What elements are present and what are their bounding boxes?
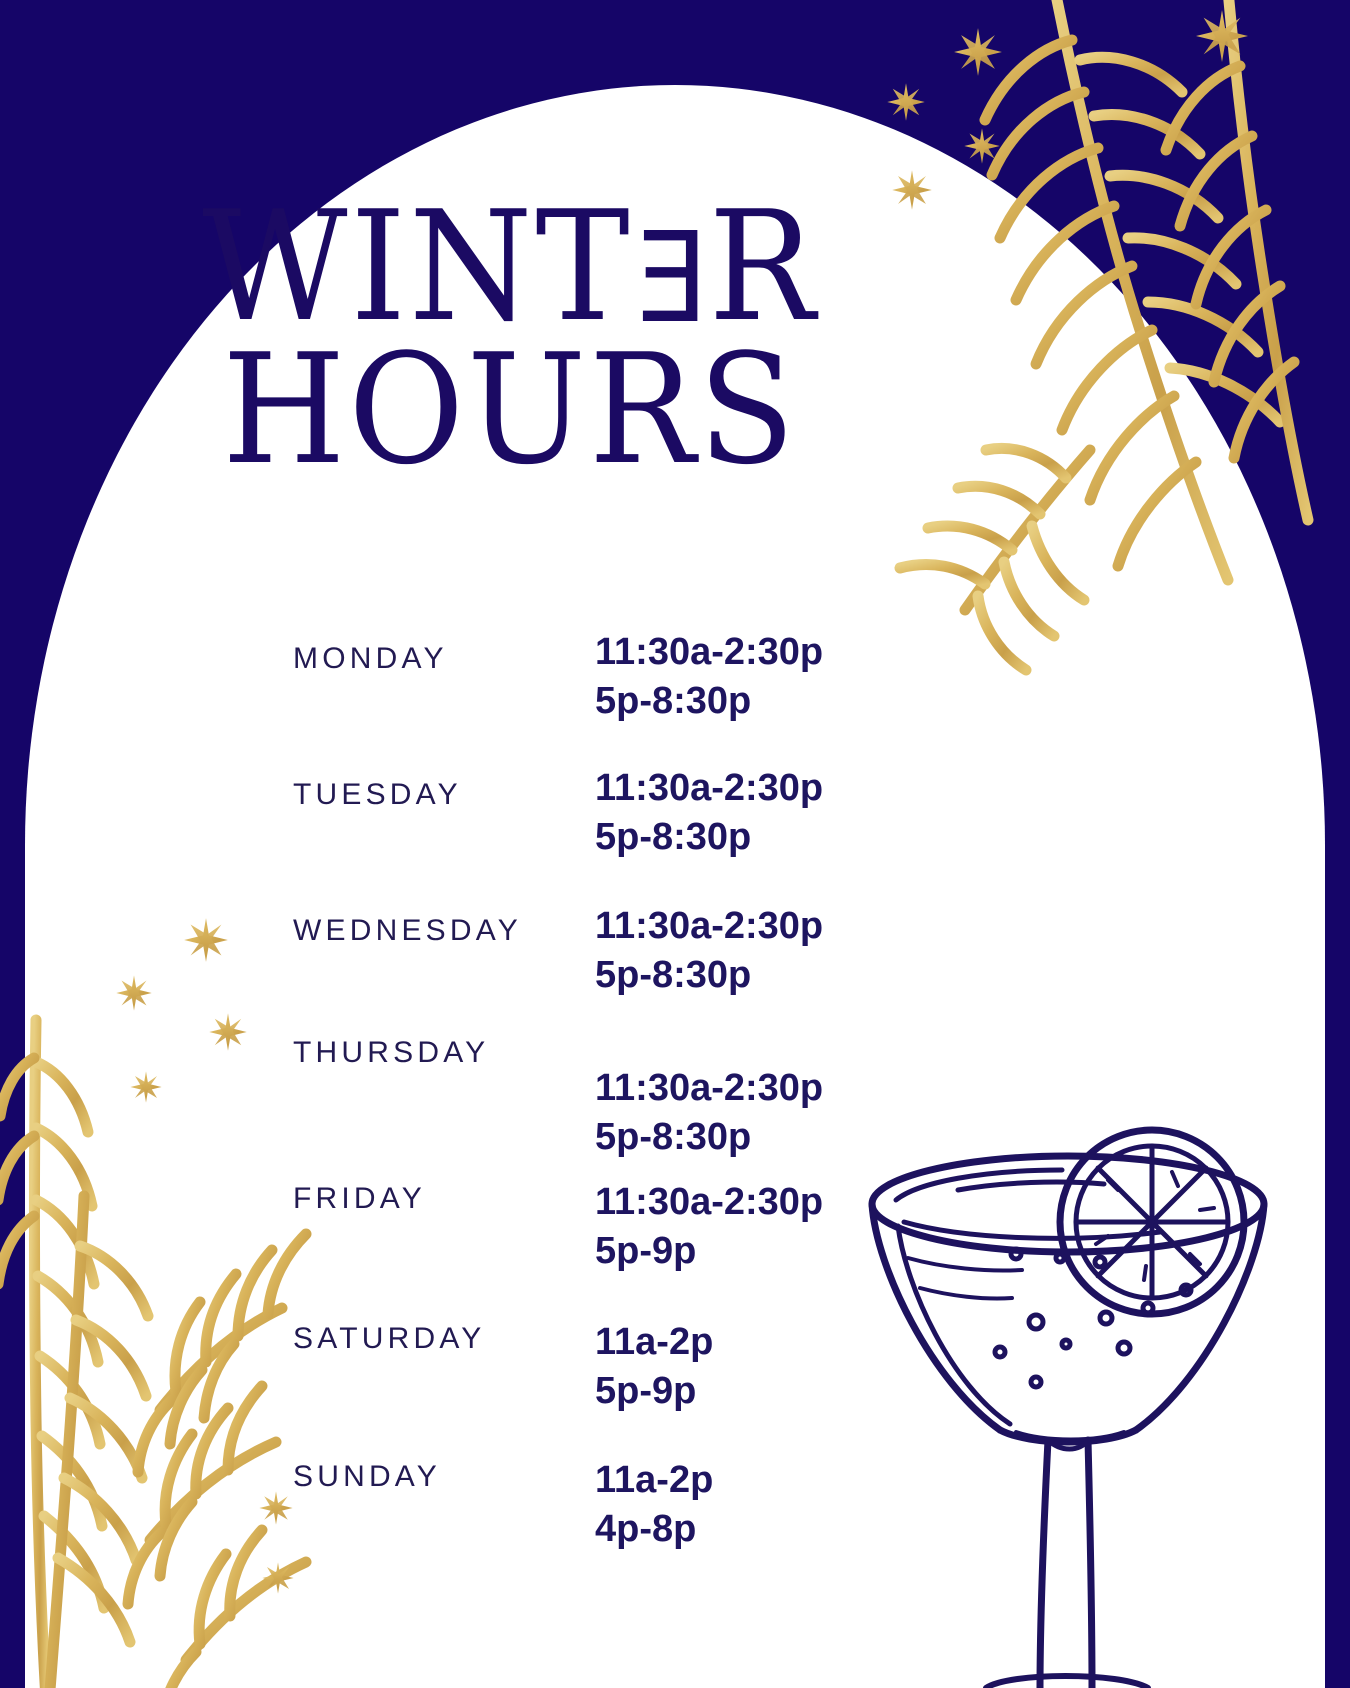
title-line-2: HOURS xyxy=(36,339,985,482)
day-label-thursday: THURSDAY xyxy=(293,1036,585,1070)
hours-thursday: 11:30a-2:30p 5p-8:30p xyxy=(595,1064,823,1161)
hours-friday: 11:30a-2:30p 5p-9p xyxy=(595,1178,823,1275)
winter-hours-poster: WINTER HOURS MONDAY 11:30a-2:30p 5p-8:30… xyxy=(0,0,1350,1688)
schedule-row-friday: FRIDAY 11:30a-2:30p 5p-9p xyxy=(0,1172,1350,1310)
hours-friday-dinner: 5p-9p xyxy=(595,1227,823,1276)
schedule-row-tuesday: TUESDAY 11:30a-2:30p 5p-8:30p xyxy=(0,758,1350,896)
day-label-monday: MONDAY xyxy=(293,642,585,676)
day-label-sunday: SUNDAY xyxy=(293,1460,585,1494)
schedule-row-monday: MONDAY 11:30a-2:30p 5p-8:30p xyxy=(0,620,1350,758)
hours-wednesday-lunch: 11:30a-2:30p xyxy=(595,902,823,951)
schedule-row-sunday: SUNDAY 11a-2p 4p-8p xyxy=(0,1448,1350,1586)
page-title: WINTER HOURS xyxy=(0,196,1020,482)
hours-tuesday: 11:30a-2:30p 5p-8:30p xyxy=(595,764,823,861)
hours-monday-lunch: 11:30a-2:30p xyxy=(595,628,823,677)
day-label-friday: FRIDAY xyxy=(293,1182,585,1216)
hours-wednesday: 11:30a-2:30p 5p-8:30p xyxy=(595,902,823,999)
hours-wednesday-dinner: 5p-8:30p xyxy=(595,951,823,1000)
hours-schedule: MONDAY 11:30a-2:30p 5p-8:30p TUESDAY 11:… xyxy=(0,620,1350,1586)
hours-thursday-lunch: 11:30a-2:30p xyxy=(595,1064,823,1113)
hours-monday-dinner: 5p-8:30p xyxy=(595,677,823,726)
hours-sunday-dinner: 4p-8p xyxy=(595,1505,713,1554)
hours-sunday-lunch: 11a-2p xyxy=(595,1456,713,1505)
hours-saturday-dinner: 5p-9p xyxy=(595,1367,713,1416)
hours-tuesday-lunch: 11:30a-2:30p xyxy=(595,764,823,813)
day-label-tuesday: TUESDAY xyxy=(293,778,585,812)
schedule-row-wednesday: WEDNESDAY 11:30a-2:30p 5p-8:30p xyxy=(0,896,1350,1034)
day-label-wednesday: WEDNESDAY xyxy=(293,914,585,948)
hours-tuesday-dinner: 5p-8:30p xyxy=(595,813,823,862)
title-stylized-e: E xyxy=(632,220,708,337)
hours-sunday: 11a-2p 4p-8p xyxy=(595,1456,713,1553)
title-line-1: WINTER xyxy=(36,196,985,339)
day-label-saturday: SATURDAY xyxy=(293,1322,585,1356)
hours-friday-lunch: 11:30a-2:30p xyxy=(595,1178,823,1227)
schedule-row-thursday: THURSDAY 11:30a-2:30p 5p-8:30p xyxy=(0,1034,1350,1172)
hours-monday: 11:30a-2:30p 5p-8:30p xyxy=(595,628,823,725)
schedule-row-saturday: SATURDAY 11a-2p 5p-9p xyxy=(0,1310,1350,1448)
hours-saturday-lunch: 11a-2p xyxy=(595,1318,713,1367)
hours-thursday-dinner: 5p-8:30p xyxy=(595,1113,823,1162)
hours-saturday: 11a-2p 5p-9p xyxy=(595,1318,713,1415)
